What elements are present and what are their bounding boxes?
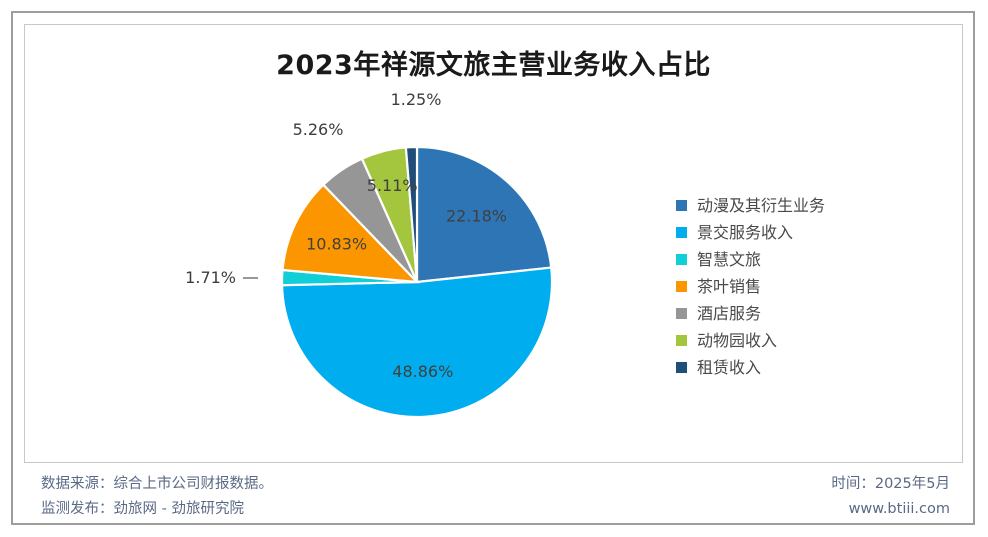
legend-item-label: 景交服务收入: [697, 225, 793, 241]
legend-swatch-icon: [676, 281, 687, 292]
legend-swatch-icon: [676, 335, 687, 346]
legend-item[interactable]: 景交服务收入: [676, 219, 866, 246]
legend-item-label: 动漫及其衍生业务: [697, 198, 825, 214]
footer-site-line: www.btiii.com: [831, 497, 950, 522]
legend-swatch-icon: [676, 254, 687, 265]
legend-item[interactable]: 茶叶销售: [676, 273, 866, 300]
legend-item-label: 租赁收入: [697, 360, 761, 376]
footer-source: 数据来源：综合上市公司财报数据。 监测发布：劲旅网 - 劲旅研究院: [41, 472, 273, 522]
legend-item[interactable]: 动物园收入: [676, 327, 866, 354]
legend: 动漫及其衍生业务景交服务收入智慧文旅茶叶销售酒店服务动物园收入租赁收入: [676, 192, 866, 381]
legend-item[interactable]: 酒店服务: [676, 300, 866, 327]
footer-date-line: 时间：2025年5月: [831, 472, 950, 497]
legend-item-label: 茶叶销售: [697, 279, 761, 295]
legend-swatch-icon: [676, 200, 687, 211]
legend-swatch-icon: [676, 362, 687, 373]
page-title: 2023年祥源文旅主营业务收入占比: [25, 43, 962, 82]
legend-item-label: 智慧文旅: [697, 252, 761, 268]
chart-page: 2023年祥源文旅主营业务收入占比 22.18%48.86%1.71%10.83…: [0, 0, 988, 537]
footer-meta: 时间：2025年5月 www.btiii.com: [831, 472, 950, 522]
footer-source-line: 数据来源：综合上市公司财报数据。: [41, 472, 273, 497]
legend-swatch-icon: [676, 308, 687, 319]
legend-item[interactable]: 智慧文旅: [676, 246, 866, 273]
legend-item[interactable]: 动漫及其衍生业务: [676, 192, 866, 219]
legend-item[interactable]: 租赁收入: [676, 354, 866, 381]
legend-swatch-icon: [676, 227, 687, 238]
legend-item-label: 动物园收入: [697, 333, 777, 349]
legend-item-label: 酒店服务: [697, 306, 761, 322]
footer-publisher-line: 监测发布：劲旅网 - 劲旅研究院: [41, 497, 273, 522]
